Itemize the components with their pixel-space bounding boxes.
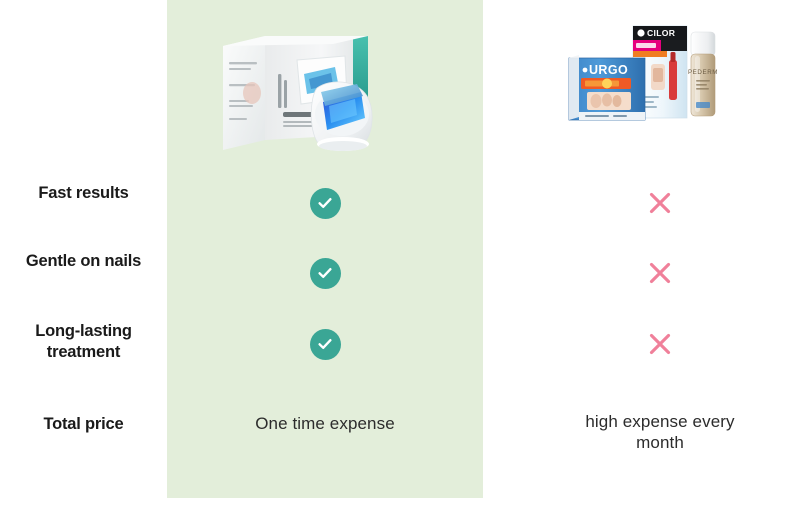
row-label-gentle-on-nails: Gentle on nails [0, 246, 167, 276]
cross-icon [647, 190, 673, 216]
check-circle-icon [310, 329, 341, 360]
row-label-long-lasting-treatment: Long-lasting treatment [0, 316, 167, 368]
row-label-total-price: Total price [0, 409, 167, 439]
product-mark-gentle-on-nails [167, 250, 483, 296]
svg-text:CILOR: CILOR [647, 28, 676, 38]
rival-price-line-1: high expense every [585, 412, 734, 433]
check-circle-icon [310, 188, 341, 219]
cross-icon [647, 331, 673, 357]
cross-icon [647, 260, 673, 286]
rival-total-price-value: high expense every month [502, 409, 800, 457]
rival-mark-gentle-on-nails [502, 250, 800, 296]
product-mark-fast-results [167, 180, 483, 226]
product-total-price-value: One time expense [167, 409, 483, 439]
rival-image: CILOR URGO [565, 22, 745, 132]
rival-mark-fast-results [502, 180, 800, 226]
rival-mark-long-lasting-treatment [502, 321, 800, 367]
product-mark-long-lasting-treatment [167, 321, 483, 367]
svg-text:PEDERM: PEDERM [688, 69, 718, 76]
rival-price-line-2: month [636, 433, 684, 454]
row-label-fast-results: Fast results [0, 178, 167, 208]
svg-text:URGO: URGO [589, 63, 628, 77]
row-label-line-2: treatment [47, 342, 120, 363]
product-image [205, 22, 405, 162]
row-label-line-1: Long-lasting [35, 321, 132, 342]
check-circle-icon [310, 258, 341, 289]
comparison-table: CILOR URGO [0, 0, 800, 505]
